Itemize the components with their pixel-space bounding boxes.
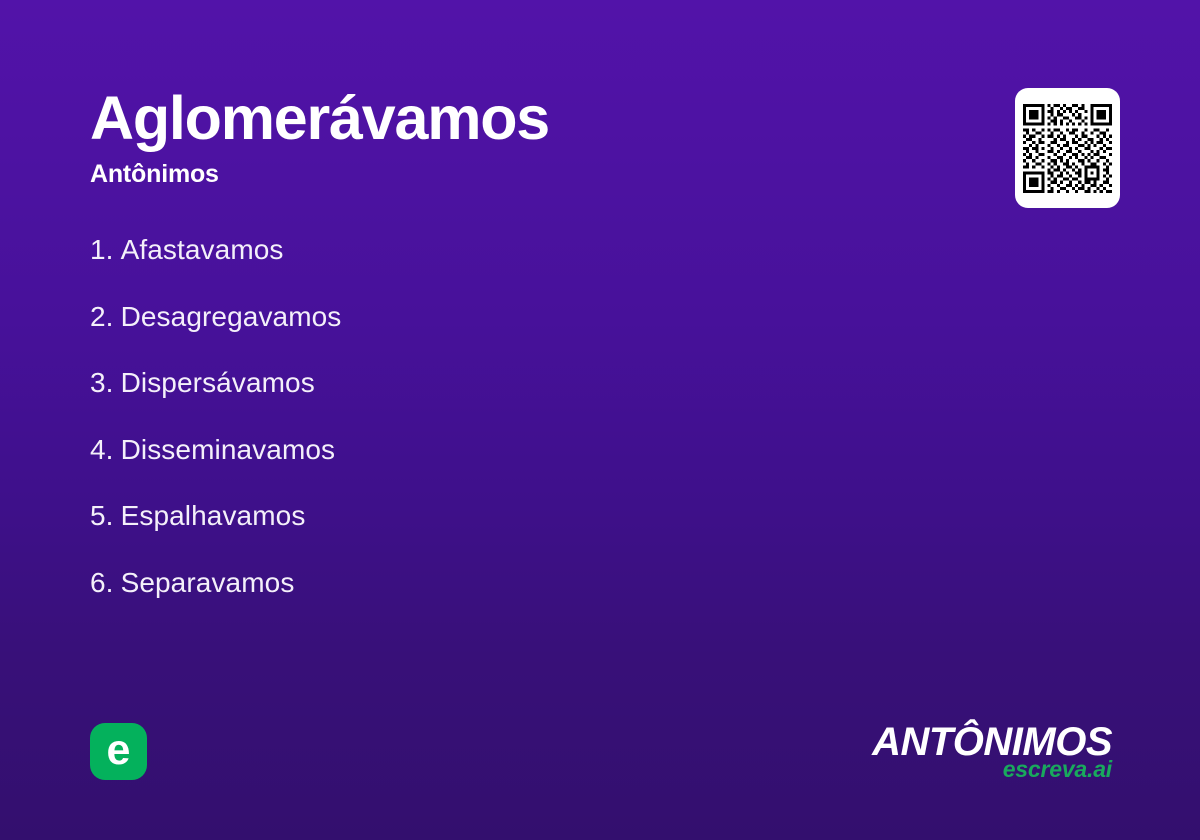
brand-lockup[interactable]: ANTÔNIMOS escreva.ai [872,722,1112,781]
escreva-logo-badge[interactable]: e [90,723,147,780]
list-item: 5.Espalhavamos [90,502,930,530]
list-item: 4.Disseminavamos [90,436,930,464]
list-item-index: 2. [90,301,114,332]
qr-code-panel[interactable] [1015,88,1120,208]
escreva-e-logo-icon: e [107,729,131,772]
title-block: Aglomerávamos Antônimos [90,86,950,189]
list-item-index: 3. [90,367,114,398]
list-item: 1.Afastavamos [90,236,930,264]
list-item: 3.Dispersávamos [90,369,930,397]
list-item: 2.Desagregavamos [90,303,930,331]
list-item: 6.Separavamos [90,569,930,597]
list-item-word: Separavamos [121,567,295,598]
antonyms-list: 1.Afastavamos2.Desagregavamos3.Dispersáv… [90,236,930,635]
list-item-index: 5. [90,500,114,531]
list-item-index: 4. [90,434,114,465]
antonyms-card: Aglomerávamos Antônimos [0,0,1200,840]
list-item-word: Disseminavamos [121,434,336,465]
list-item-word: Afastavamos [121,234,284,265]
list-item-index: 6. [90,567,114,598]
list-item-index: 1. [90,234,114,265]
page-subtitle: Antônimos [90,160,950,189]
list-item-word: Desagregavamos [121,301,342,332]
page-title: Aglomerávamos [90,86,950,150]
list-item-word: Espalhavamos [121,500,306,531]
qr-code-icon [1023,104,1112,193]
list-item-word: Dispersávamos [121,367,315,398]
